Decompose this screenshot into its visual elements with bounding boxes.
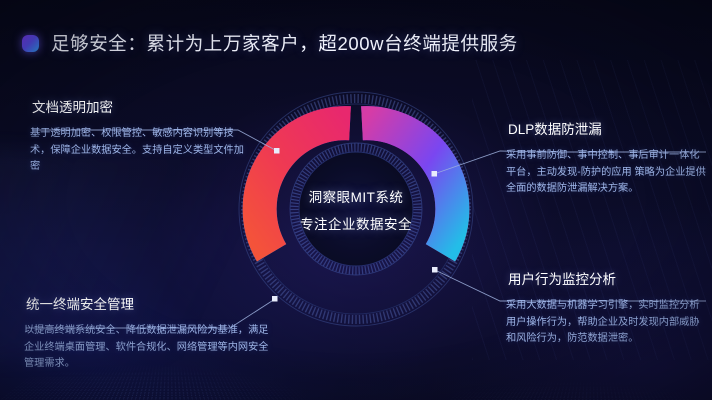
callout-title-document-encryption: 文档透明加密 (30, 96, 252, 120)
callout-document-encryption: 文档透明加密 基于透明加密、权限管控、敏感内容识别等技术，保障企业数据安全。支持… (30, 96, 252, 176)
center-line-2: 专注企业数据安全 (300, 213, 412, 233)
callout-title-dlp: DLP数据防泄漏 (506, 118, 706, 142)
callout-body-user-behavior: 采用大数据与机器学习引擎，实时监控分析用户操作行为，帮助企业及时发现内部威胁和风… (506, 292, 706, 348)
page-title: 足够安全：累计为上万家客户，超200w台终端提供服务 (51, 30, 518, 56)
callout-body-endpoint-management: 以提高终端系统安全、降低数据泄漏风险为基准，满足企业终端桌面管理、软件合规化、网… (24, 317, 274, 373)
callout-user-behavior: 用户行为监控分析 采用大数据与机器学习引擎，实时监控分析用户操作行为，帮助企业及… (506, 268, 706, 348)
slide-canvas: 足够安全：累计为上万家客户，超200w台终端提供服务 (0, 0, 712, 400)
callout-body-document-encryption: 基于透明加密、权限管控、敏感内容识别等技术，保障企业数据安全。支持自定义类型文件… (30, 120, 252, 176)
slide-header: 足够安全：累计为上万家客户，超200w台终端提供服务 (22, 30, 518, 56)
callout-title-endpoint-management: 统一终端安全管理 (24, 293, 274, 317)
callout-endpoint-management: 统一终端安全管理 以提高终端系统安全、降低数据泄漏风险为基准，满足企业终端桌面管… (24, 293, 274, 373)
callout-body-dlp: 采用事前防御、事中控制、事后审计一体化平台，主动发现-防护的应用 策略为企业提供… (506, 142, 706, 198)
gradient-diamond-icon (22, 35, 39, 52)
callout-title-user-behavior: 用户行为监控分析 (506, 268, 706, 292)
callout-dlp: DLP数据防泄漏 采用事前防御、事中控制、事后审计一体化平台，主动发现-防护的应… (506, 118, 706, 198)
background-dot-mesh-right (402, 376, 712, 400)
center-line-1: 洞察眼MIT系统 (309, 186, 404, 206)
